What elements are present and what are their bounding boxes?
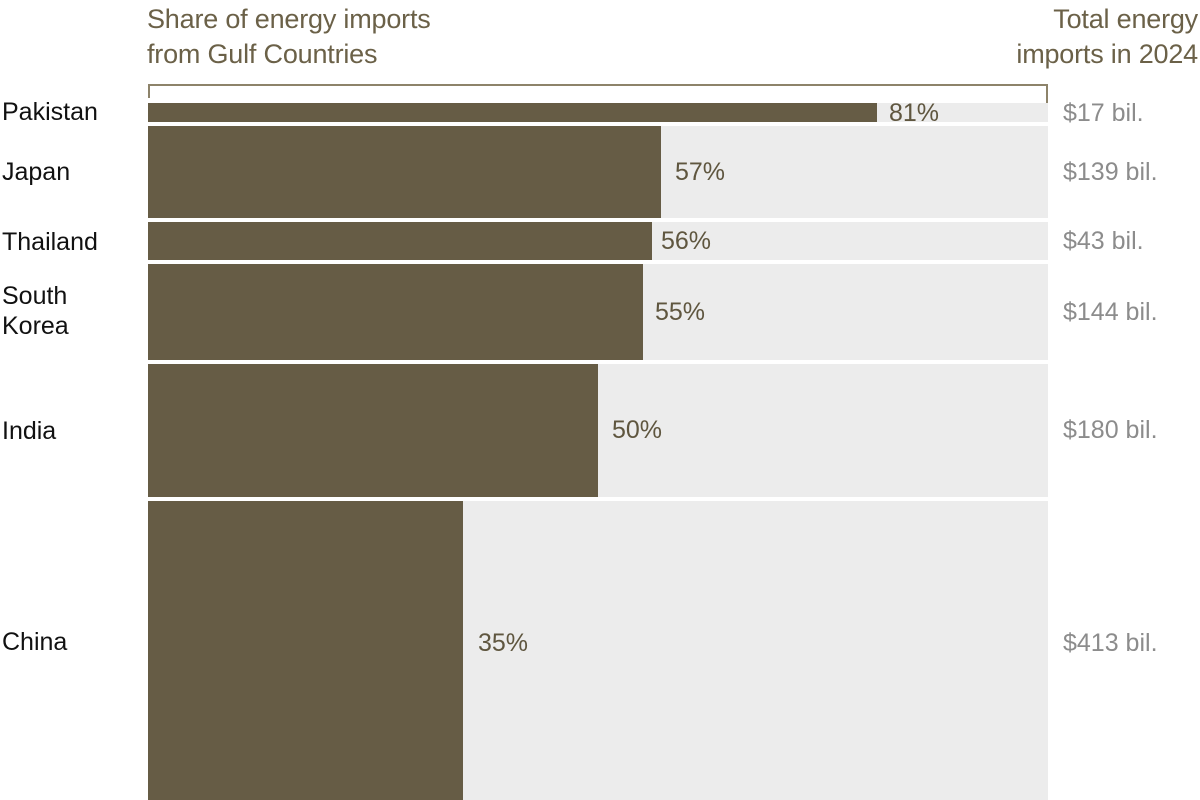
row-track	[148, 364, 1048, 497]
row-percent-label: 56%	[661, 227, 711, 256]
row-percent-label: 57%	[675, 158, 725, 187]
row-percent-label: 50%	[612, 416, 662, 445]
table-row[interactable]: South Korea 55% $144 bil.	[0, 264, 1200, 360]
row-track	[148, 222, 1048, 260]
row-total-label: $43 bil.	[1063, 227, 1144, 256]
row-bar	[148, 222, 652, 260]
row-percent-label: 81%	[889, 99, 939, 128]
row-track	[148, 264, 1048, 360]
row-total-label: $139 bil.	[1063, 158, 1158, 187]
row-label-country: India	[2, 416, 142, 446]
row-bar	[148, 364, 598, 497]
row-label-country: Japan	[2, 157, 142, 187]
table-row[interactable]: Japan 57% $139 bil.	[0, 126, 1200, 218]
row-bar	[148, 501, 463, 800]
row-track	[148, 126, 1048, 218]
row-bar	[148, 264, 643, 360]
row-label-country: South Korea	[2, 281, 142, 341]
bracket-left-cap	[148, 84, 150, 98]
row-bar	[148, 103, 877, 122]
table-row[interactable]: India 50% $180 bil.	[0, 364, 1200, 497]
row-label-country: China	[2, 627, 142, 657]
table-row[interactable]: China 35% $413 bil.	[0, 501, 1200, 800]
row-total-label: $144 bil.	[1063, 298, 1158, 327]
chart-title-left: Share of energy imports from Gulf Countr…	[147, 2, 431, 72]
row-total-label: $413 bil.	[1063, 629, 1158, 658]
chart-container: Share of energy imports from Gulf Countr…	[0, 0, 1200, 800]
bracket-top-line	[148, 84, 1048, 86]
row-percent-label: 35%	[478, 629, 528, 658]
row-total-label: $17 bil.	[1063, 99, 1144, 128]
row-label-country: Thailand	[2, 227, 142, 257]
row-bar	[148, 126, 661, 218]
row-label-country: Pakistan	[2, 97, 142, 127]
row-percent-label: 55%	[655, 298, 705, 327]
table-row[interactable]: Pakistan 81% $17 bil.	[0, 103, 1200, 122]
row-track	[148, 501, 1048, 800]
row-total-label: $180 bil.	[1063, 416, 1158, 445]
chart-title-right: Total energy imports in 2024	[1016, 2, 1198, 72]
table-row[interactable]: Thailand 56% $43 bil.	[0, 222, 1200, 260]
